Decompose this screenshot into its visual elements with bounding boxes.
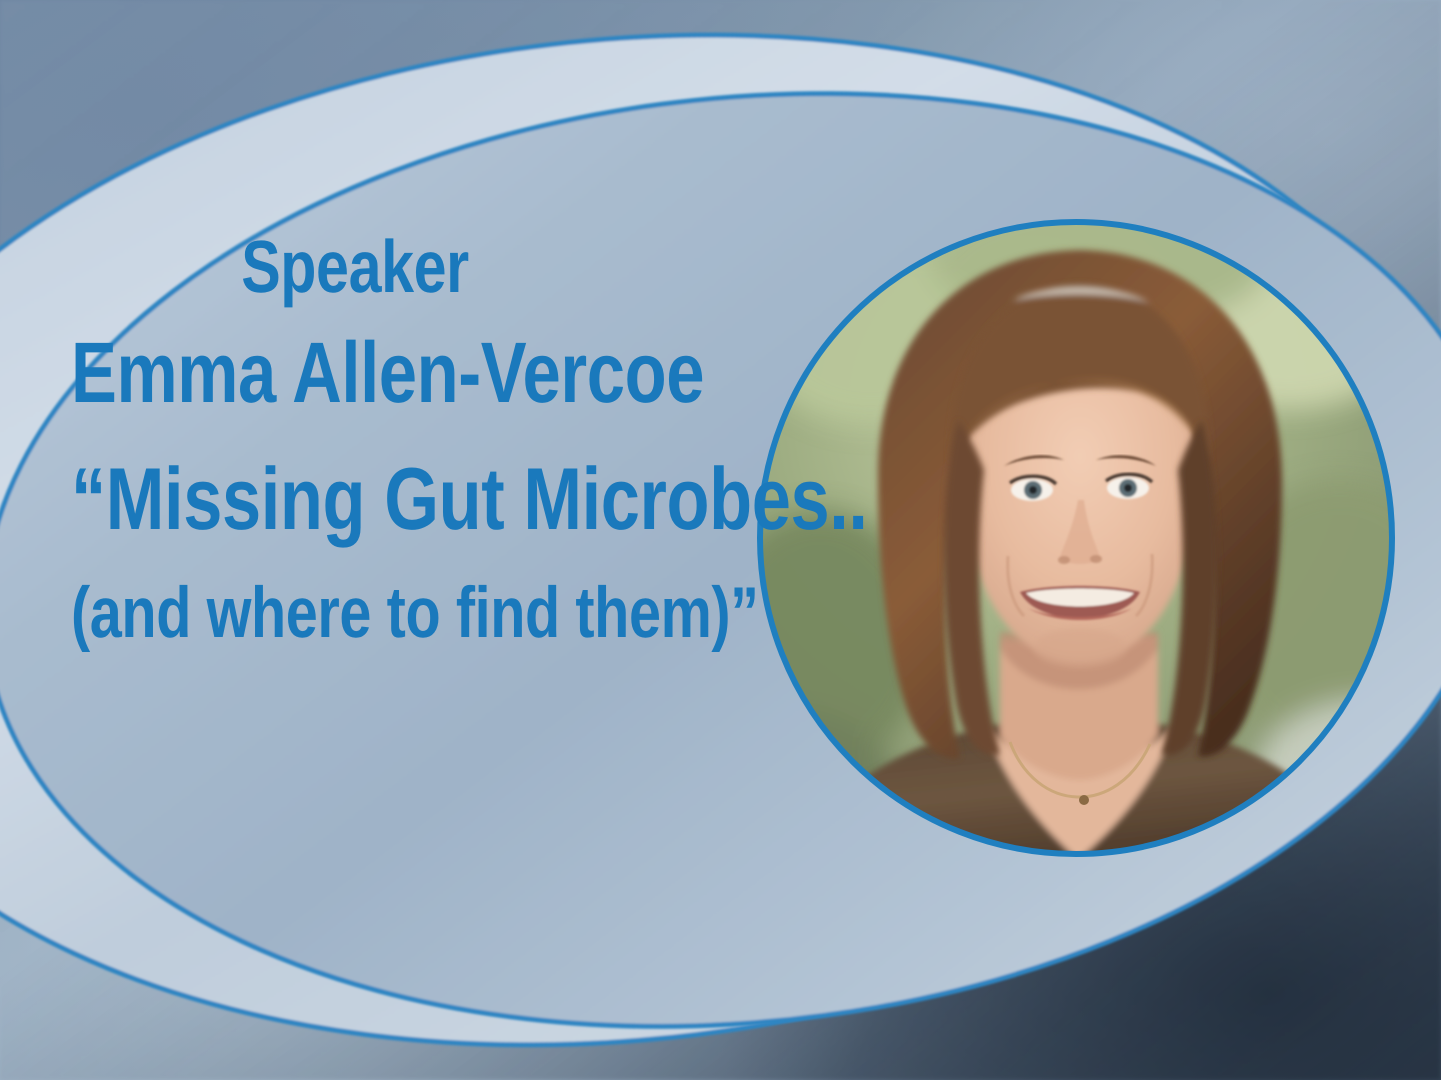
title-slide: Speaker Emma Allen-Vercoe “Missing Gut M… [0, 0, 1441, 1080]
speaker-name: Emma Allen-Vercoe [71, 328, 639, 419]
talk-title-line-1: “Missing Gut Microbes.. [71, 452, 639, 545]
page-title: Speaker [71, 228, 639, 306]
talk-title-line-2: (and where to find them)” [71, 575, 639, 651]
slide-text-block: Speaker Emma Allen-Vercoe “Missing Gut M… [0, 228, 710, 651]
